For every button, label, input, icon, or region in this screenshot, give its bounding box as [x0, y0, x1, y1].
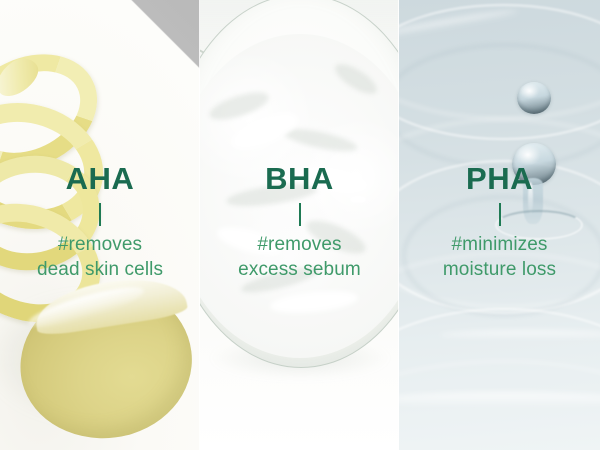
panel-aha-artwork: [0, 0, 200, 450]
panel-bha-artwork: [200, 0, 399, 450]
panel-bha[interactable]: BHA #removes excess sebum: [200, 0, 399, 450]
dish-glass-highlight: [350, 196, 366, 203]
gray-corner-wedge: [124, 0, 200, 76]
panel-seam-1: [199, 0, 200, 450]
panel-seam-2: [398, 0, 399, 450]
infographic-canvas: AHA #removes dead skin cells: [0, 0, 600, 450]
panel-pha[interactable]: PHA #minimizes moisture loss: [399, 0, 600, 450]
panel-aha[interactable]: AHA #removes dead skin cells: [0, 0, 200, 450]
panel-pha-artwork: [399, 0, 600, 450]
